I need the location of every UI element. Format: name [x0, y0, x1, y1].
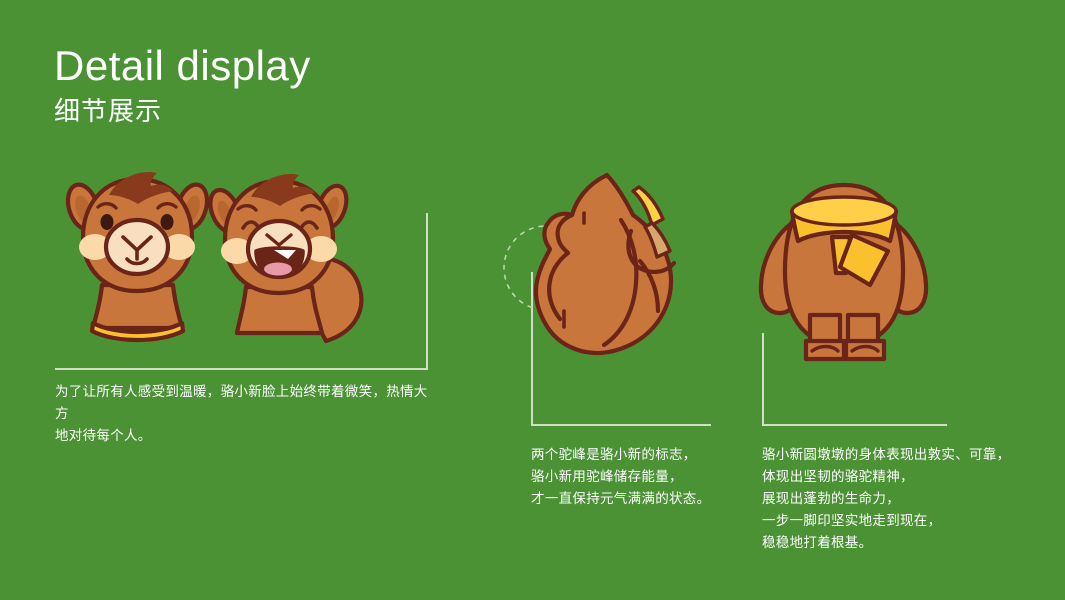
caption-text-3: 骆小新圆墩墩的身体表现出敦实、可靠， 体现出坚韧的骆驼精神， 展现出蓬勃的生命力… [762, 444, 1012, 554]
caption-line: 体现出坚韧的骆驼精神， [762, 466, 1012, 488]
caption-line: 才一直保持元气满满的状态。 [531, 488, 756, 510]
slide-canvas: Detail display 细节展示 [0, 0, 1065, 600]
caption-line: 地对待每个人。 [55, 425, 435, 447]
caption-text-1: 为了让所有人感受到温暖，骆小新脸上始终带着微笑，热情大方 地对待每个人。 [55, 381, 435, 447]
caption-line: 两个驼峰是骆小新的标志， [531, 444, 756, 466]
page-subtitle: 细节展示 [54, 94, 574, 128]
camel-faces-illustration [60, 165, 390, 370]
camel-humps-illustration [500, 165, 700, 375]
camel-face-laughing [205, 174, 362, 341]
page-title: Detail display [54, 40, 574, 92]
caption-line: 一步一脚印坚实地走到现在， [762, 510, 1012, 532]
caption-line: 骆小新圆墩墩的身体表现出敦实、可靠， [762, 444, 1012, 466]
caption-line: 稳稳地打着根基。 [762, 532, 1012, 554]
page-title-block: Detail display 细节展示 [54, 40, 574, 128]
caption-line: 展现出蓬勃的生命力， [762, 488, 1012, 510]
caption-line: 为了让所有人感受到温暖，骆小新脸上始终带着微笑，热情大方 [55, 381, 435, 425]
caption-text-2: 两个驼峰是骆小新的标志， 骆小新用驼峰储存能量， 才一直保持元气满满的状态。 [531, 444, 756, 510]
camel-face-smiling [63, 172, 212, 340]
caption-line: 骆小新用驼峰储存能量， [531, 466, 756, 488]
camel-body-illustration [748, 163, 948, 373]
